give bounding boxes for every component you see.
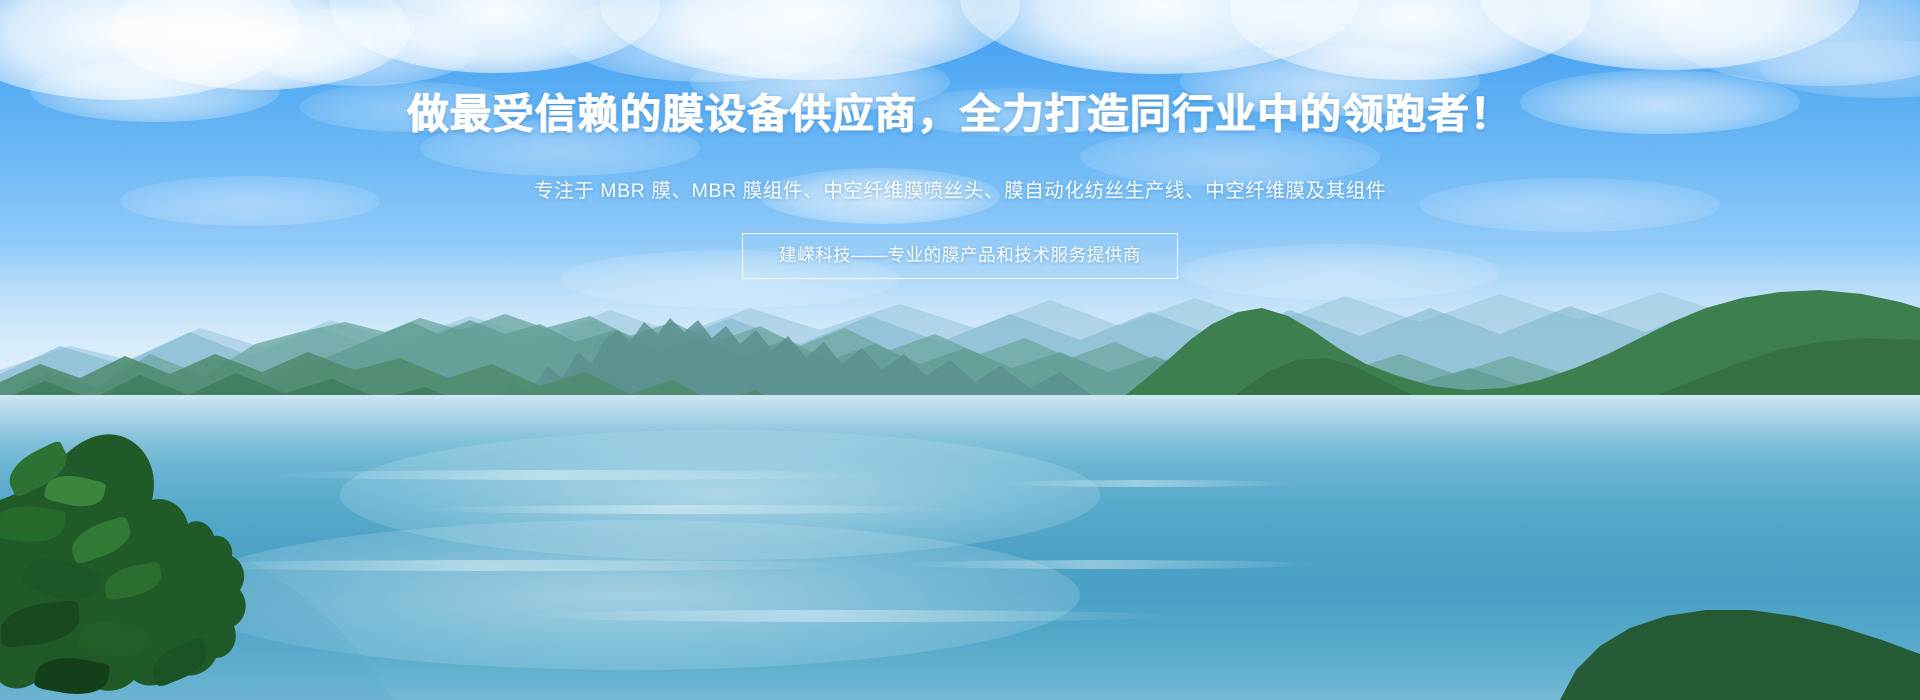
water-streak [420, 505, 960, 514]
tagline-badge: 建嵘科技——专业的膜产品和技术服务提供商 [742, 233, 1178, 279]
water-streak [900, 560, 1320, 569]
page-title: 做最受信赖的膜设备供应商，全力打造同行业中的领跑者！ [0, 92, 1920, 138]
hero-banner: 做最受信赖的膜设备供应商，全力打造同行业中的领跑者！ 专注于 MBR 膜、MBR… [0, 0, 1920, 700]
water-streak [160, 560, 860, 571]
hero-subtitle: 专注于 MBR 膜、MBR 膜组件、中空纤维膜喷丝头、膜自动化纺丝生产线、中空纤… [0, 138, 1920, 205]
tagline-container: 建嵘科技——专业的膜产品和技术服务提供商 [0, 205, 1920, 279]
water-streak [1000, 480, 1300, 487]
water-sheen [180, 520, 1080, 670]
hero-text-block: 做最受信赖的膜设备供应商，全力打造同行业中的领跑者！ 专注于 MBR 膜、MBR… [0, 92, 1920, 279]
water-streak [260, 470, 880, 480]
water-streak [520, 610, 1180, 622]
